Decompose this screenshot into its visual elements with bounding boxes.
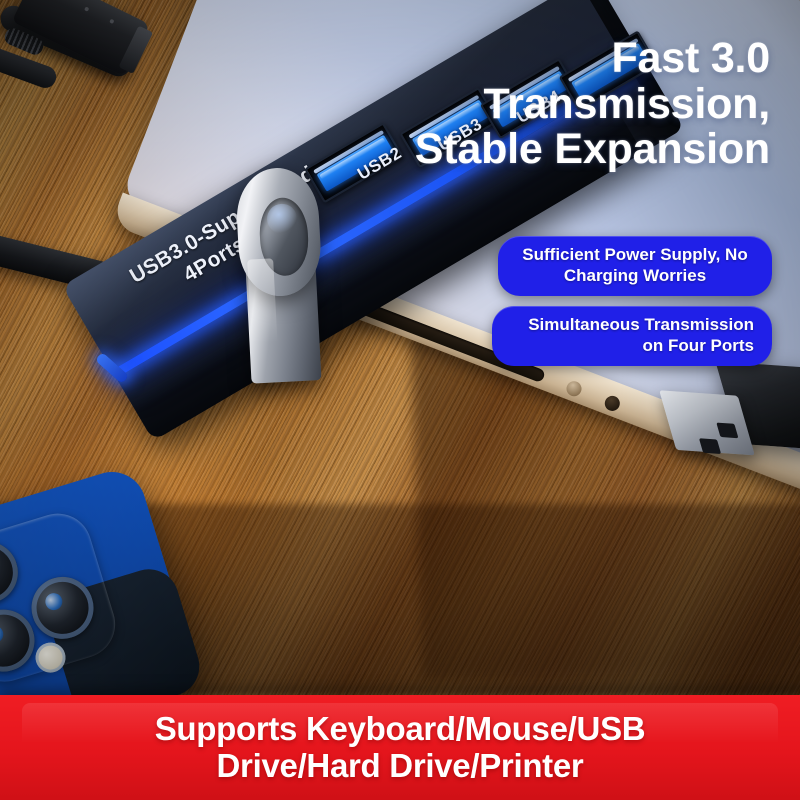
feature-badge-power-supply: Sufficient Power Supply, No Charging Wor… [498, 236, 772, 296]
badge-2-line-1: Simultaneous Transmission [510, 314, 754, 335]
badge-1-line-2: Charging Worries [516, 265, 754, 286]
feature-badge-simultaneous-transmission: Simultaneous Transmission on Four Ports [492, 306, 772, 366]
headline-line-3: Stable Expansion [250, 127, 770, 173]
badge-2-line-2: on Four Ports [510, 335, 754, 356]
product-banner-image: USB3.0-SuperSpeed 4Ports Hub USB1 USB2 U… [0, 0, 800, 800]
banner-line-2: Drive/Hard Drive/Printer [155, 748, 646, 785]
banner-line-1: Supports Keyboard/Mouse/USB [155, 711, 646, 748]
headline-line-1: Fast 3.0 [250, 36, 770, 82]
headline: Fast 3.0 Transmission, Stable Expansion [250, 36, 770, 173]
bottom-red-banner: Supports Keyboard/Mouse/USB Drive/Hard D… [0, 695, 800, 800]
headline-line-2: Transmission, [250, 82, 770, 128]
badge-1-line-1: Sufficient Power Supply, No [516, 244, 754, 265]
feature-badge-group: Sufficient Power Supply, No Charging Wor… [472, 236, 772, 366]
banner-text: Supports Keyboard/Mouse/USB Drive/Hard D… [155, 711, 646, 785]
